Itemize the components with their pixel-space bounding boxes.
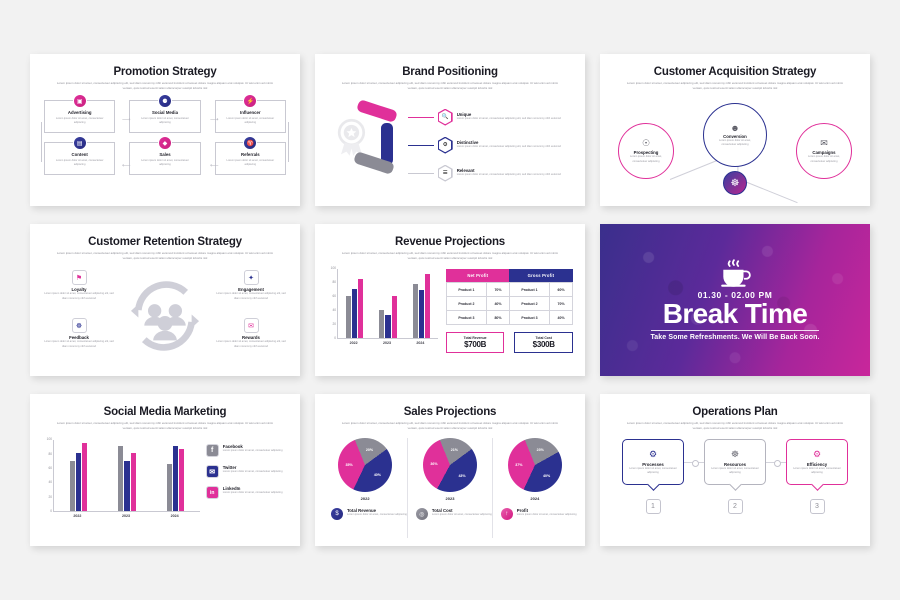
page-title: Sales Projections: [315, 406, 585, 418]
retention-diagram: ⚑ Loyalty Lorem ipsum dolor sit amet, co…: [30, 266, 300, 366]
pie-legend-item[interactable]: $ Total Revenue Lorem ipsum dolor sit am…: [323, 508, 407, 520]
step-text: Lorem ipsum dolor sit amet, consectetuer…: [792, 467, 842, 476]
pie-title: 2022: [361, 496, 370, 501]
step-card-resources[interactable]: ☸ Resources Lorem ipsum dolor sit amet, …: [704, 439, 766, 485]
profit-table: Net Profit Gross Profit Product 1 70% Pr…: [446, 269, 573, 325]
chart-bar: [124, 461, 129, 511]
checklist-icon: ☰: [439, 166, 452, 180]
column-header-net-profit: Net Profit: [446, 269, 509, 283]
step-text: Lorem ipsum dolor sit amet, consectetuer…: [710, 467, 760, 476]
coin-icon: $: [331, 508, 343, 520]
slide-promotion-strategy[interactable]: Promotion Strategy Lorem ipsum dolor sit…: [30, 54, 300, 206]
brand-layout: 🔍 Unique Lorem ipsum dolor sit amet, con…: [327, 99, 573, 191]
page-title: Customer Retention Strategy: [30, 236, 300, 248]
pie-group-2023[interactable]: 21%43%36% 2023 ◎ Total Cost Lorem ipsum …: [408, 438, 492, 538]
network-icon: ⚙: [439, 138, 452, 152]
flow-connector: [41, 122, 42, 162]
pie-group-2022[interactable]: 20%40%35% 2022 $ Total Revenue Lorem ips…: [323, 438, 407, 538]
chart-bar: [413, 284, 418, 339]
y-axis-tick: 80: [42, 452, 52, 456]
retention-item-rewards[interactable]: ✉ Rewards Lorem ipsum dolor sit amet, co…: [216, 318, 286, 349]
retention-item-feedback[interactable]: ☸ Feedback Lorem ipsum dolor sit amet, c…: [44, 318, 114, 349]
chart-bar: [76, 453, 81, 511]
slide-deck: Promotion Strategy Lorem ipsum dolor sit…: [0, 0, 900, 600]
item-text: Lorem ipsum dolor sit amet, consectetuer…: [216, 340, 286, 349]
slide-break-time[interactable]: 01.30 - 02.00 PM Break Time Take Some Re…: [600, 224, 870, 376]
retention-item-loyalty[interactable]: ⚑ Loyalty Lorem ipsum dolor sit amet, co…: [44, 270, 114, 301]
slide-subtitle: Lorem ipsum dolor sit amet, consectetuer…: [52, 421, 278, 431]
tag-icon: ◆: [158, 136, 172, 150]
cell-value: 70%: [487, 283, 510, 297]
brand-item[interactable]: ⚙ Distinctive Lorem ipsum dolor sit amet…: [438, 137, 573, 154]
magnifier-icon: 🔍: [439, 110, 452, 124]
x-axis-tick: 2023: [377, 341, 397, 345]
card-label: Content: [45, 152, 114, 157]
users-icon: ♈: [243, 136, 257, 150]
item-text: Lorem ipsum dolor sit amet, consectetuer…: [457, 145, 561, 149]
item-text: Lorem ipsum dolor sit amet, consectetuer…: [44, 340, 114, 349]
node-text: Lorem ipsum dolor sit amet, consectetuer…: [712, 139, 758, 148]
brand-item[interactable]: 🔍 Unique Lorem ipsum dolor sit amet, con…: [438, 109, 573, 126]
item-text: Lorem ipsum dolor sit amet, consectetuer…: [44, 292, 114, 301]
pie-chart: 23%40%37%: [508, 438, 562, 492]
arrow-right-icon: ⟶: [122, 116, 131, 123]
chart-bar: [392, 296, 397, 338]
node-campaigns[interactable]: ✉ Campaigns Lorem ipsum dolor sit amet, …: [796, 123, 852, 179]
step-card-efficiency[interactable]: ⚙ Efficiency Lorem ipsum dolor sit amet,…: [786, 439, 848, 485]
break-time-banner: 01.30 - 02.00 PM Break Time Take Some Re…: [600, 224, 870, 376]
people-resource-icon: ☸: [731, 449, 739, 460]
legend-item-linkedin[interactable]: in LinkedIn Lorem ipsum dolor sit amet, …: [206, 486, 288, 499]
promotion-card[interactable]: ♈ Referrals Lorem ipsum dolor sit amet, …: [215, 142, 286, 175]
card-label: Referrals: [216, 152, 285, 157]
legend-text: Lorem ipsum dolor sit amet, consectetuer…: [347, 513, 407, 517]
pie-legend-item[interactable]: ↑ Profit Lorem ipsum dolor sit amet, con…: [493, 508, 577, 520]
x-axis-tick: 2023: [116, 514, 136, 518]
facebook-icon: f: [206, 444, 219, 457]
chart-bar: [179, 449, 184, 511]
table-row: Product 1 70% Product 1 60%: [446, 283, 572, 297]
pie-slice-label: 40%: [541, 474, 553, 478]
x-axis-tick: 2022: [344, 341, 364, 345]
node-text: Lorem ipsum dolor sit amet, consectetuer…: [625, 155, 667, 164]
hexagon-frame: ⚙: [438, 137, 453, 154]
arrow-left-icon: ⟵: [210, 162, 219, 169]
chart-bar: [352, 289, 357, 338]
step-connector: [684, 462, 704, 463]
acquisition-diagram: ☉ Prospecting Lorem ipsum dolor sit amet…: [600, 95, 870, 193]
pie-slice-label: 37%: [513, 463, 525, 467]
chart-bar: [346, 296, 351, 338]
social-legend: f Facebook Lorem ipsum dolor sit amet, c…: [206, 440, 288, 521]
card-text: Lorem ipsum dolor sit amet, consectetuer…: [221, 159, 280, 168]
card-text: Lorem ipsum dolor sit amet, consectetuer…: [50, 117, 109, 126]
social-x-axis: 202220232024: [53, 512, 200, 521]
pie-chart-row: 20%40%35% 2022 $ Total Revenue Lorem ips…: [323, 438, 577, 538]
x-axis-tick: 2024: [410, 341, 430, 345]
node-conversion[interactable]: ☻ Conversion Lorem ipsum dolor sit amet,…: [703, 103, 767, 167]
slide-subtitle: Lorem ipsum dolor sit amet, consectetuer…: [622, 421, 848, 431]
hexagon-frame: ☰: [438, 165, 453, 182]
chart-bar: [379, 310, 384, 338]
arrow-left-icon: ⟵: [122, 162, 131, 169]
card-label: Social Media: [130, 110, 199, 115]
cell-product: Product 2: [509, 297, 549, 311]
pie-group-2024[interactable]: 23%40%37% 2024 ↑ Profit Lorem ipsum dolo…: [493, 438, 577, 538]
x-axis-tick: 2022: [67, 514, 87, 518]
connector-line: [740, 179, 798, 203]
chart-bar: [118, 446, 123, 511]
target-icon: ✦: [244, 270, 259, 285]
star-user-icon: ⚡: [243, 94, 257, 108]
pie-slice-label: 35%: [343, 463, 355, 467]
legend-text: Lorem ipsum dolor sit amet, consectetuer…: [223, 470, 283, 474]
x-axis-tick: 2024: [165, 514, 185, 518]
total-value: $700B: [447, 340, 504, 349]
legend-item-facebook[interactable]: f Facebook Lorem ipsum dolor sit amet, c…: [206, 444, 288, 457]
step-number: 3: [810, 499, 825, 514]
pie-slice-label: 21%: [448, 448, 460, 452]
twitter-icon: ✉: [206, 465, 219, 478]
legend-text: Lorem ipsum dolor sit amet, consectetuer…: [223, 491, 283, 495]
promotion-card[interactable]: ▣ Advertising Lorem ipsum dolor sit amet…: [44, 100, 115, 133]
total-cost-box: Total Cost $300B: [514, 332, 573, 353]
chart-bar: [131, 453, 136, 511]
chart-bar: [358, 279, 363, 338]
divider: [651, 330, 819, 331]
pie-legend-item[interactable]: ◎ Total Cost Lorem ipsum dolor sit amet,…: [408, 508, 492, 520]
gear-speed-icon: ⚙: [813, 449, 821, 460]
step-connector: [766, 462, 786, 463]
campaign-icon: ✉: [820, 138, 828, 149]
chart-bar: [173, 446, 178, 511]
card-text: Lorem ipsum dolor sit amet, consectetuer…: [135, 159, 194, 168]
flow-connector: [288, 122, 289, 162]
page-title: Social Media Marketing: [30, 406, 300, 418]
slide-subtitle: Lorem ipsum dolor sit amet, consectetuer…: [52, 251, 278, 261]
cell-product: Product 1: [509, 283, 549, 297]
brand-graphic: [327, 99, 438, 191]
item-text: Lorem ipsum dolor sit amet, consectetuer…: [457, 117, 561, 121]
medal-icon: ⚑: [72, 270, 87, 285]
slide-customer-retention[interactable]: Customer Retention Strategy Lorem ipsum …: [30, 224, 300, 376]
revenue-x-axis: 202220232024: [337, 339, 438, 348]
pie-slice-label: 23%: [534, 448, 546, 452]
pie-slice-label: 40%: [371, 473, 383, 477]
slide-social-media-marketing[interactable]: Social Media Marketing Lorem ipsum dolor…: [30, 394, 300, 546]
card-label: Sales: [130, 152, 199, 157]
legend-text: Lorem ipsum dolor sit amet, consectetuer…: [223, 449, 283, 453]
promotion-card-grid: ▣ Advertising Lorem ipsum dolor sit amet…: [44, 100, 286, 175]
break-time-subtitle: Take Some Refreshments. We Will Be Back …: [650, 334, 819, 341]
brand-item[interactable]: ☰ Relevant Lorem ipsum dolor sit amet, c…: [438, 165, 573, 182]
card-label: Influencer: [216, 110, 285, 115]
cell-product: Product 1: [446, 283, 486, 297]
wallet-icon: ◎: [416, 508, 428, 520]
card-text: Lorem ipsum dolor sit amet, consectetuer…: [50, 159, 109, 168]
slide-subtitle: Lorem ipsum dolor sit amet, consectetuer…: [337, 81, 563, 91]
social-bar-chart: 020406080100: [53, 440, 200, 512]
gears-icon: ⚙: [649, 449, 657, 460]
legend-item-twitter[interactable]: ✉ Twitter Lorem ipsum dolor sit amet, co…: [206, 465, 288, 478]
growth-icon: ↑: [501, 508, 513, 520]
y-axis-tick: 0: [42, 509, 52, 513]
step-number: 1: [646, 499, 661, 514]
page-title: Customer Acquisition Strategy: [600, 66, 870, 78]
chart-bar: [425, 274, 430, 338]
step-card-processes[interactable]: ⚙ Processes Lorem ipsum dolor sit amet, …: [622, 439, 684, 485]
chat-heart-icon: ✉: [244, 318, 259, 333]
pie-slice-label: 36%: [428, 462, 440, 466]
y-axis-tick: 80: [326, 280, 336, 284]
pie-title: 2024: [530, 496, 539, 501]
cell-value: 60%: [550, 283, 573, 297]
y-axis-tick: 40: [42, 480, 52, 484]
y-axis-tick: 100: [326, 266, 336, 270]
slide-revenue-projections[interactable]: Revenue Projections Lorem ipsum dolor si…: [315, 224, 585, 376]
pie-chart: 20%40%35%: [338, 438, 392, 492]
page-title: Revenue Projections: [315, 236, 585, 248]
coffee-cup-icon: [718, 259, 752, 289]
cell-value: 40%: [487, 297, 510, 311]
three-users-cycle-icon: [128, 279, 202, 353]
operations-steps: ⚙ Processes Lorem ipsum dolor sit amet, …: [600, 439, 870, 514]
share-icon: ⚈: [158, 94, 172, 108]
search-user-icon: ☉: [642, 138, 650, 149]
card-text: Lorem ipsum dolor sit amet, consectetuer…: [135, 117, 194, 126]
y-axis-tick: 60: [42, 466, 52, 470]
chart-bar: [419, 290, 424, 338]
total-value: $300B: [515, 340, 572, 349]
page-title: Promotion Strategy: [30, 66, 300, 78]
megaphone-icon: ▣: [73, 94, 87, 108]
y-axis-tick: 20: [326, 322, 336, 326]
chart-bar: [385, 315, 390, 338]
brand-items: 🔍 Unique Lorem ipsum dolor sit amet, con…: [438, 99, 573, 191]
legend-text: Lorem ipsum dolor sit amet, consectetuer…: [432, 513, 492, 517]
total-revenue-box: Total Revenue $700B: [446, 332, 505, 353]
y-axis-tick: 100: [42, 437, 52, 441]
slide-subtitle: Lorem ipsum dolor sit amet, consectetuer…: [337, 421, 563, 431]
item-text: Lorem ipsum dolor sit amet, consectetuer…: [457, 173, 561, 177]
pie-slice-label: 43%: [456, 474, 468, 478]
promotion-card[interactable]: ◆ Sales Lorem ipsum dolor sit amet, cons…: [129, 142, 200, 175]
slide-brand-positioning[interactable]: Brand Positioning Lorem ipsum dolor sit …: [315, 54, 585, 206]
slide-subtitle: Lorem ipsum dolor sit amet, consectetuer…: [52, 81, 278, 91]
table-row: Product 2 40% Product 2 70%: [446, 297, 572, 311]
column-header-gross-profit: Gross Profit: [509, 269, 572, 283]
break-time-title: Break Time: [663, 299, 807, 328]
chart-bar: [82, 443, 87, 511]
slide-operations-plan[interactable]: Operations Plan Lorem ipsum dolor sit am…: [600, 394, 870, 546]
pie-chart: 21%43%36%: [423, 438, 477, 492]
pie-slice-label: 20%: [363, 448, 375, 452]
step-text: Lorem ipsum dolor sit amet, consectetuer…: [628, 467, 678, 476]
slide-customer-acquisition[interactable]: Customer Acquisition Strategy Lorem ipsu…: [600, 54, 870, 206]
legend-text: Lorem ipsum dolor sit amet, consectetuer…: [517, 513, 577, 517]
node-text: Lorem ipsum dolor sit amet, consectetuer…: [803, 155, 845, 164]
cell-value: 70%: [550, 297, 573, 311]
pie-title: 2023: [446, 496, 455, 501]
cell-product: Product 3: [509, 311, 549, 325]
slide-subtitle: Lorem ipsum dolor sit amet, consectetuer…: [337, 251, 563, 261]
chart-bar: [167, 464, 172, 511]
group-people-icon[interactable]: ☸: [723, 171, 747, 195]
table-header-row: Net Profit Gross Profit: [446, 269, 572, 283]
table-row: Product 3 80% Product 3 40%: [446, 311, 572, 325]
y-axis-tick: 0: [326, 336, 336, 340]
cell-product: Product 3: [446, 311, 486, 325]
y-axis-tick: 60: [326, 294, 336, 298]
card-text: Lorem ipsum dolor sit amet, consectetuer…: [221, 117, 280, 126]
promotion-card[interactable]: ⚈ Social Media Lorem ipsum dolor sit ame…: [129, 100, 200, 133]
arrow-right-icon: ⟶: [210, 116, 219, 123]
cell-value: 80%: [487, 311, 510, 325]
cell-product: Product 2: [446, 297, 486, 311]
y-axis-tick: 20: [42, 495, 52, 499]
item-text: Lorem ipsum dolor sit amet, consectetuer…: [216, 292, 286, 301]
cell-value: 40%: [550, 311, 573, 325]
promotion-card[interactable]: ⚡ Influencer Lorem ipsum dolor sit amet,…: [215, 100, 286, 133]
chart-bar: [70, 461, 75, 511]
hexagon-frame: 🔍: [438, 109, 453, 126]
page-title: Operations Plan: [600, 406, 870, 418]
slide-sales-projections[interactable]: Sales Projections Lorem ipsum dolor sit …: [315, 394, 585, 546]
revenue-bar-chart: 020406080100: [337, 269, 438, 339]
linkedin-icon: in: [206, 486, 219, 499]
page-title: Brand Positioning: [315, 66, 585, 78]
step-number: 2: [728, 499, 743, 514]
node-prospecting[interactable]: ☉ Prospecting Lorem ipsum dolor sit amet…: [618, 123, 674, 179]
y-axis-tick: 40: [326, 308, 336, 312]
promotion-card[interactable]: ▤ Content Lorem ipsum dolor sit amet, co…: [44, 142, 115, 175]
comment-user-icon: ☸: [72, 318, 87, 333]
card-label: Advertising: [45, 110, 114, 115]
slide-subtitle: Lorem ipsum dolor sit amet, consectetuer…: [622, 81, 848, 91]
retention-item-engagement[interactable]: ✦ Engagement Lorem ipsum dolor sit amet,…: [216, 270, 286, 301]
document-icon: ▤: [73, 136, 87, 150]
user-convert-icon: ☻: [730, 123, 739, 133]
